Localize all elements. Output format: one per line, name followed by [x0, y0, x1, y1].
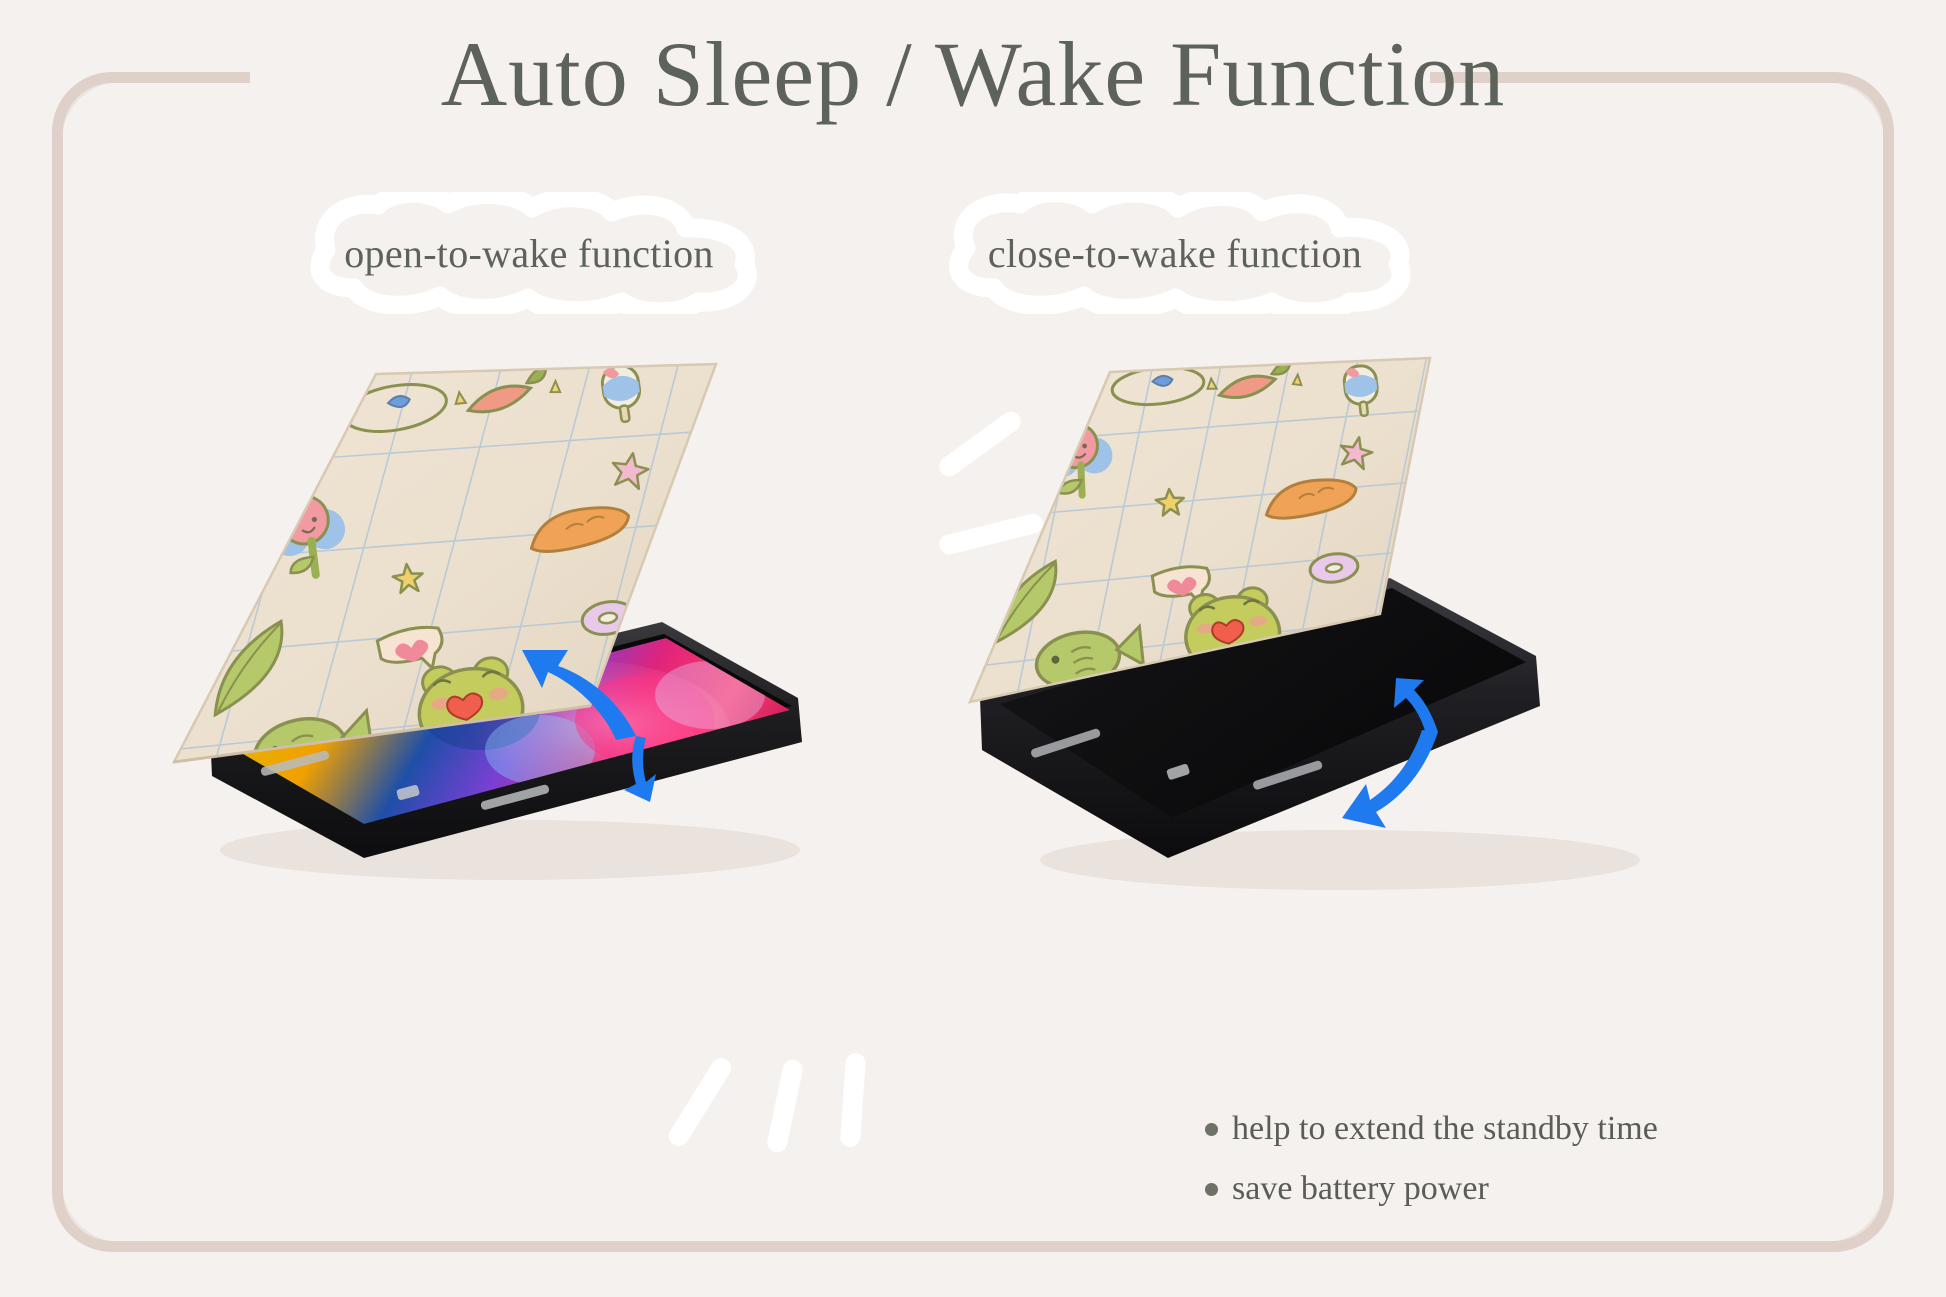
callout-label: close-to-wake function	[988, 230, 1362, 277]
callout-label: open-to-wake function	[344, 230, 714, 277]
benefit-label: save battery power	[1232, 1170, 1489, 1208]
benefits-list: help to extend the standby time save bat…	[1205, 1110, 1658, 1230]
bullet-dot-icon	[1205, 1123, 1218, 1136]
benefit-item: save battery power	[1205, 1170, 1658, 1208]
bullet-dot-icon	[1205, 1183, 1218, 1196]
benefit-item: help to extend the standby time	[1205, 1110, 1658, 1148]
device-right-closing	[960, 350, 1680, 910]
callout-open-to-wake: open-to-wake function	[282, 192, 776, 314]
page-title: Auto Sleep / Wake Function	[0, 28, 1946, 120]
device-left-open	[150, 350, 850, 910]
tablet-closing-illustration	[960, 350, 1680, 910]
callout-close-to-wake: close-to-wake function	[920, 192, 1430, 314]
tablet-open-illustration	[150, 350, 850, 910]
poster-canvas: Auto Sleep / Wake Function open-to-wake …	[0, 0, 1946, 1297]
benefit-label: help to extend the standby time	[1232, 1110, 1658, 1148]
